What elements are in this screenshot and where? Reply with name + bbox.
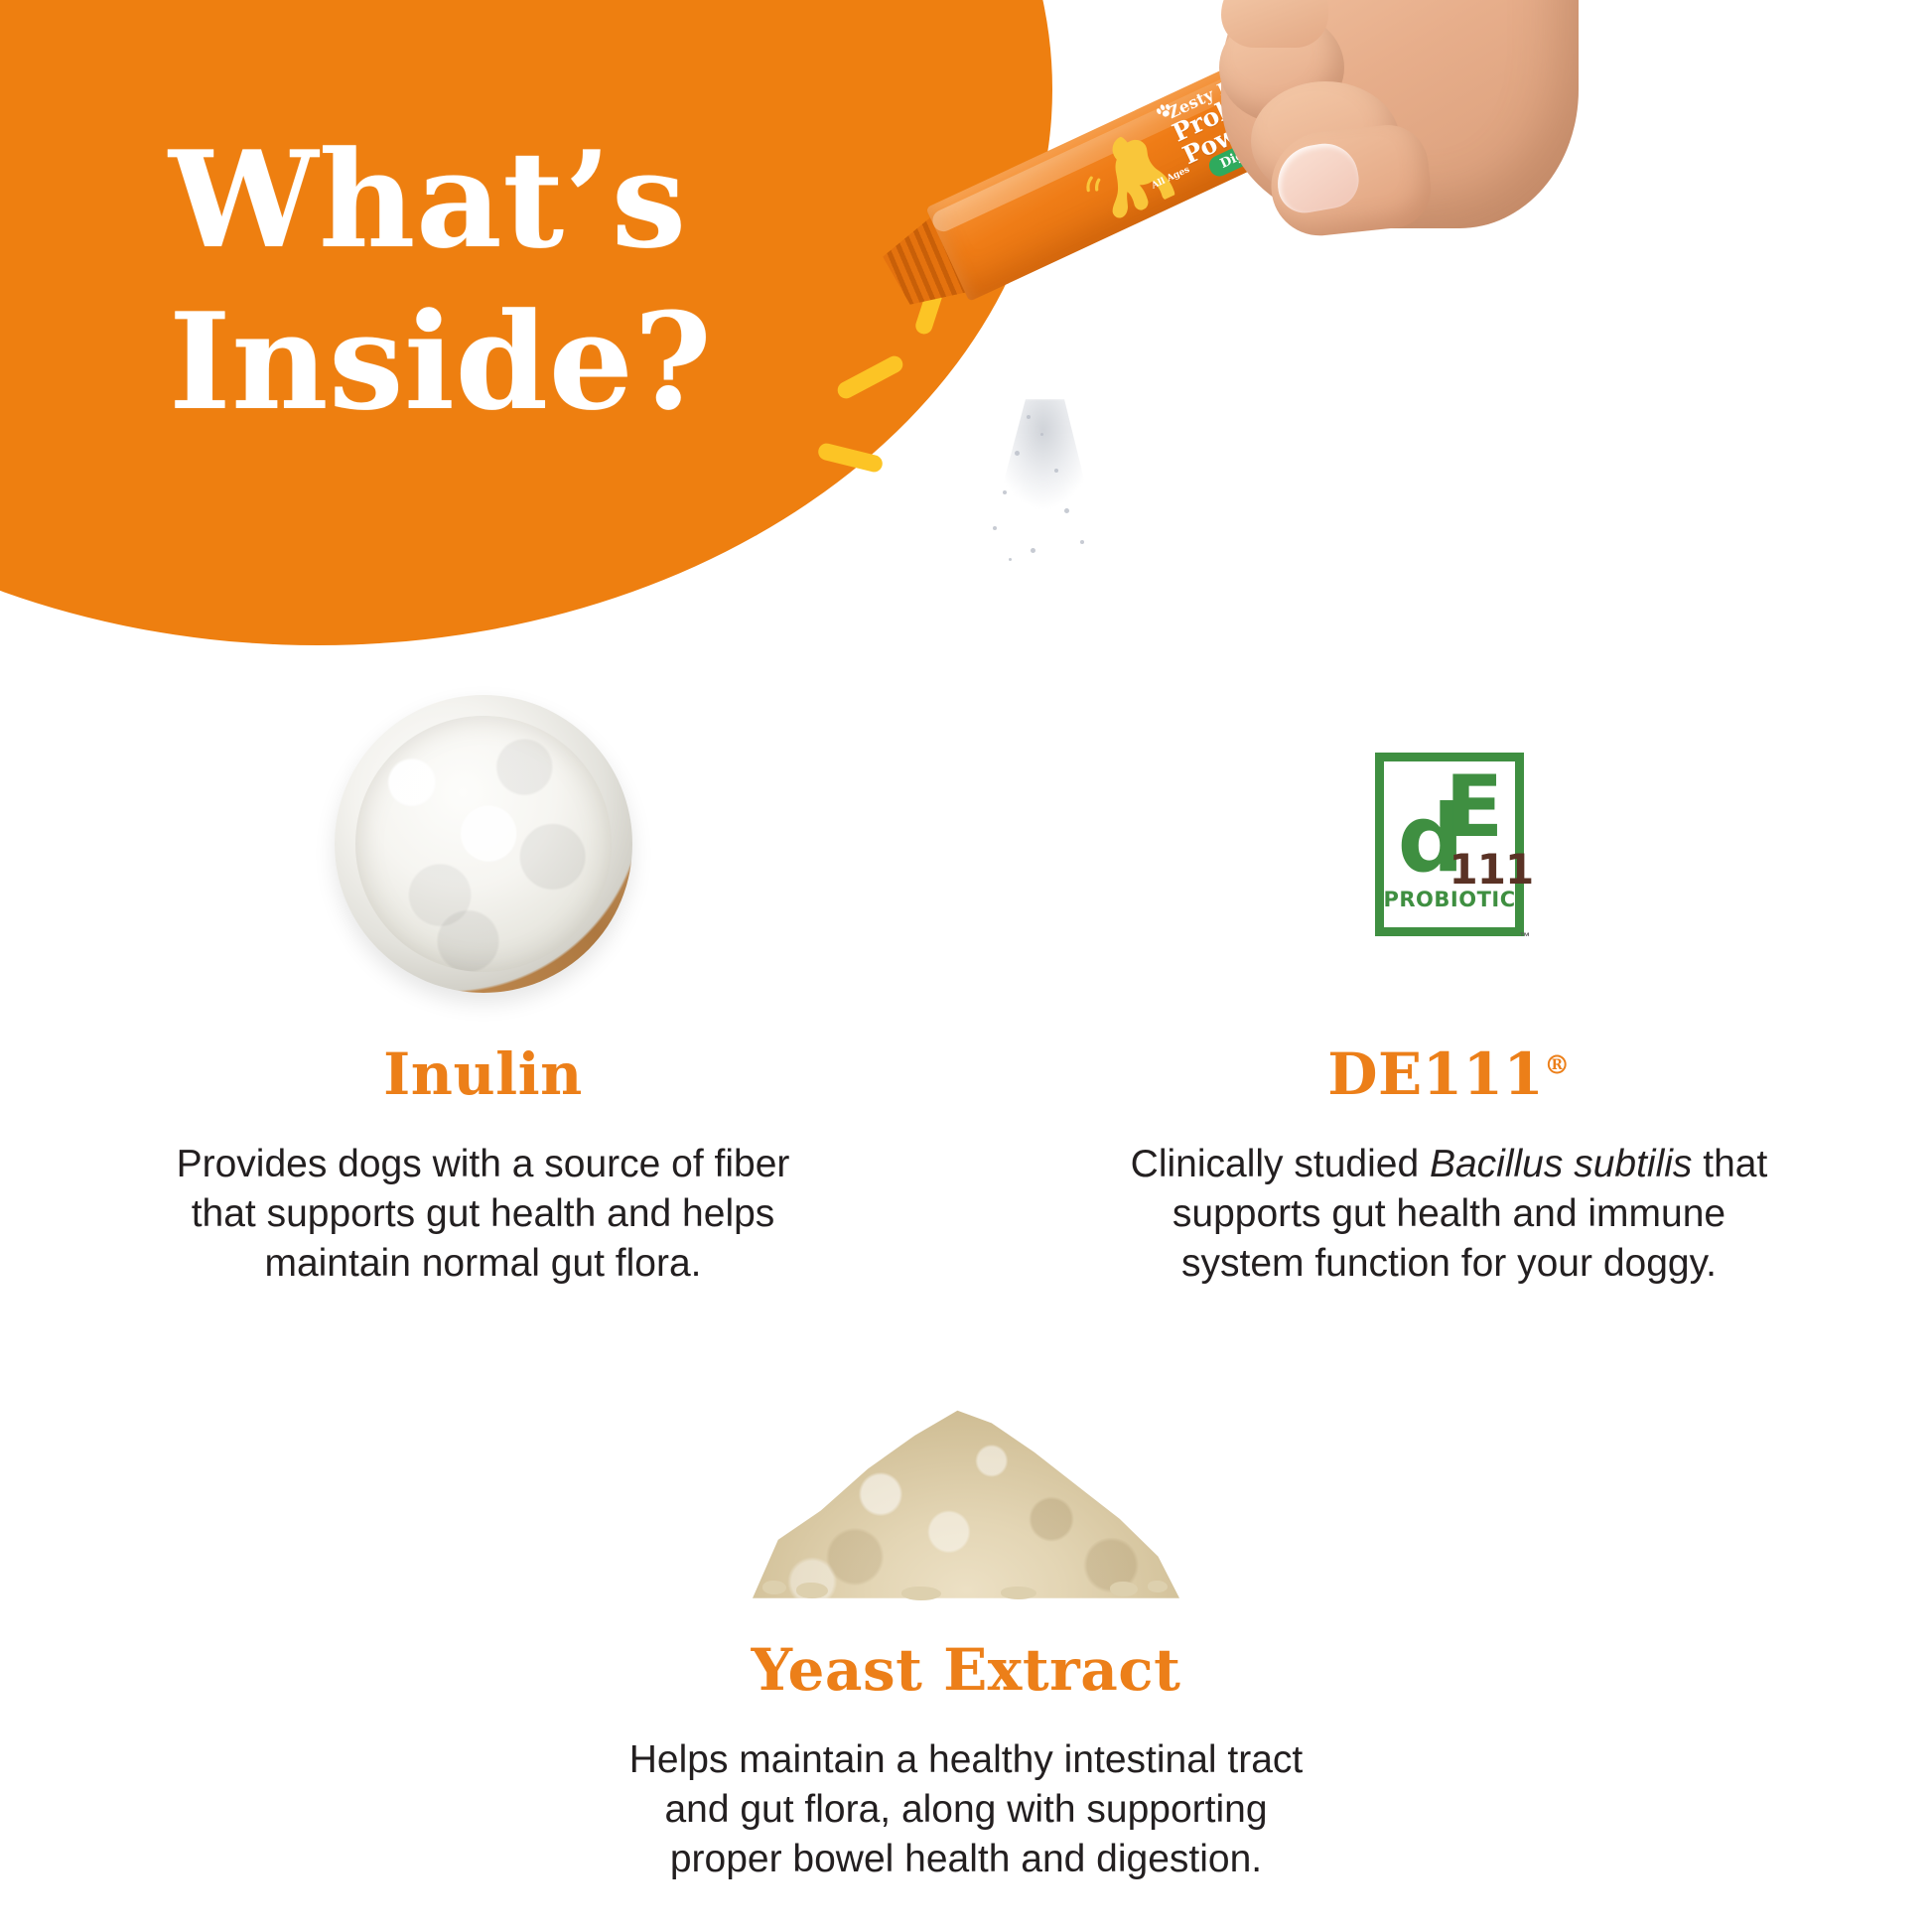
powder-crumb [1110,1582,1138,1596]
ingredient-title-yeast-extract: Yeast Extract [752,1636,1181,1704]
powder-speck [1031,548,1035,553]
product-packshot: Zesty Paws Probiotic Powder Digestive He… [854,0,1608,556]
page-title-line-1: What’s [169,121,687,278]
powder-crumb [1148,1581,1168,1592]
ingredient-title-inulin: Inulin [383,1040,583,1108]
powder-speck [1040,433,1043,436]
ingredients-grid: Inulin Provides dogs with a source of fi… [0,685,1932,1883]
inulin-art [335,685,632,1003]
bowl-of-white-powder [335,695,632,993]
powder-speck [1015,451,1020,456]
infographic-page: What’s Inside? [0,0,1932,1932]
powder-crumb [1001,1587,1036,1599]
ingredient-desc-yeast-extract: Helps maintain a healthy intestinal trac… [623,1735,1309,1884]
ingredient-title-de111: DE111® [1327,1040,1571,1108]
desc-part-italic: Bacillus subtilis [1430,1143,1692,1185]
de111-logo-trademark: ™ [1520,931,1531,943]
hand-holding-icon [1102,0,1579,328]
ingredient-card-inulin: Inulin Provides dogs with a source of fi… [0,685,966,1289]
powder-crumb [901,1587,941,1600]
de111-logo-number: 111 [1449,849,1534,891]
powder-crumb [762,1581,786,1594]
powder-speck [993,526,997,530]
registered-mark: ® [1544,1051,1571,1081]
page-title-line-2: Inside? [169,281,712,443]
ingredient-card-de111: d E 111 PROBIOTIC ™ DE111® Clinically st… [966,685,1932,1289]
bowl-powder-fill [355,716,612,972]
powder-speck [1003,490,1007,494]
ingredient-desc-de111: Clinically studied Bacillus subtilis tha… [1107,1140,1792,1289]
pile-of-tan-powder [753,1370,1179,1598]
ingredients-row-2: Yeast Extract Helps maintain a healthy i… [0,1350,1932,1884]
ingredients-row-1: Inulin Provides dogs with a source of fi… [0,685,1932,1289]
ingredient-title-de111-text: DE111 [1327,1040,1544,1108]
fingertip [1221,0,1328,48]
ingredient-desc-inulin: Provides dogs with a source of fiber tha… [141,1140,826,1289]
powder-mound [753,1390,1179,1598]
powder-speck [1027,415,1031,419]
de111-art: d E 111 PROBIOTIC ™ [1375,685,1524,1003]
powder-speck [1080,540,1084,544]
powder-speck [1054,469,1058,473]
ingredient-card-yeast-extract: Yeast Extract Helps maintain a healthy i… [0,1350,1932,1884]
desc-part-pre: Clinically studied [1131,1143,1430,1185]
de111-certification-logo: d E 111 PROBIOTIC ™ [1375,753,1524,936]
powder-speck [1064,508,1069,513]
page-title: What’s Inside? [169,119,712,444]
de111-logo-letter-e: E [1446,773,1504,842]
de111-logo-word: PROBIOTIC [1384,888,1515,911]
powder-speck [1009,558,1012,561]
powder-crumb [796,1583,828,1598]
yeast-extract-art [753,1350,1179,1598]
